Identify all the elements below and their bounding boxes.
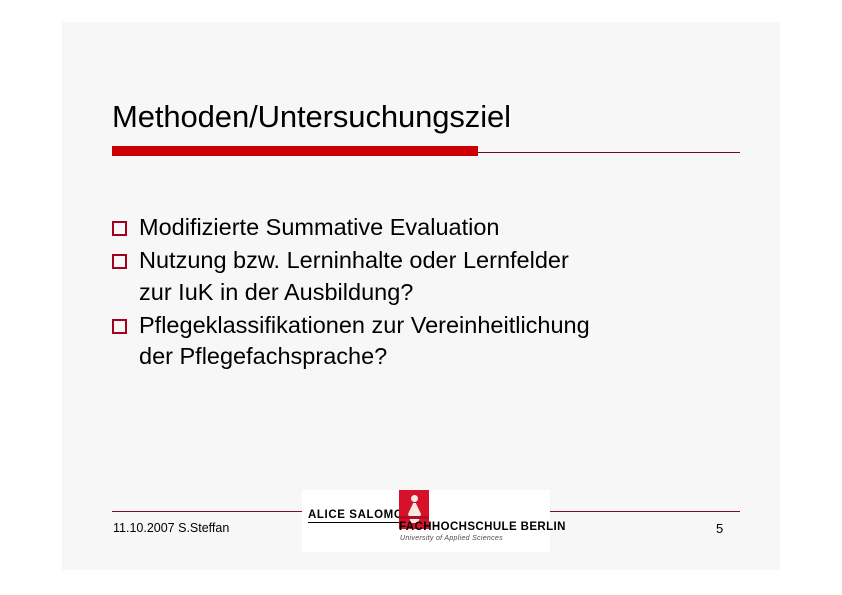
title-block: Methoden/Untersuchungsziel [112, 100, 752, 135]
institution-logo: ALICE SALOMON FACHHOCHSCHULE BERLIN Univ… [302, 490, 550, 552]
square-outline-bullet-icon [112, 221, 127, 236]
slide-title: Methoden/Untersuchungsziel [112, 100, 752, 135]
bullet-list: Modifizierte Summative Evaluation Nutzun… [112, 212, 752, 374]
footer-date-author: 11.10.2007 S.Steffan [113, 521, 229, 535]
figure-body-shape [408, 503, 421, 523]
footer-divider-left [112, 511, 315, 512]
figure-head-shape [411, 495, 418, 502]
list-item: Modifizierte Summative Evaluation [112, 212, 752, 243]
logo-tagline: University of Applied Sciences [400, 535, 503, 542]
bullet-text: Pflegeklassifikationen zur Vereinheitlic… [139, 310, 752, 373]
figure-stripe-shape [399, 516, 429, 519]
bullet-text: Nutzung bzw. Lerninhalte oder Lernfelder… [139, 245, 752, 308]
square-outline-bullet-icon [112, 254, 127, 269]
logo-name-line: ALICE SALOMON [308, 509, 412, 523]
list-item: Nutzung bzw. Lerninhalte oder Lernfelder… [112, 245, 752, 308]
square-outline-bullet-icon [112, 319, 127, 334]
page-number: 5 [716, 521, 723, 536]
list-item: Pflegeklassifikationen zur Vereinheitlic… [112, 310, 752, 373]
footer-divider-right [549, 511, 740, 512]
title-underline-red-bar [112, 146, 478, 156]
logo-institution-line: FACHHOCHSCHULE BERLIN [399, 521, 566, 533]
bullet-text: Modifizierte Summative Evaluation [139, 212, 752, 243]
slide-root: Methoden/Untersuchungsziel Modifizierte … [0, 0, 842, 595]
